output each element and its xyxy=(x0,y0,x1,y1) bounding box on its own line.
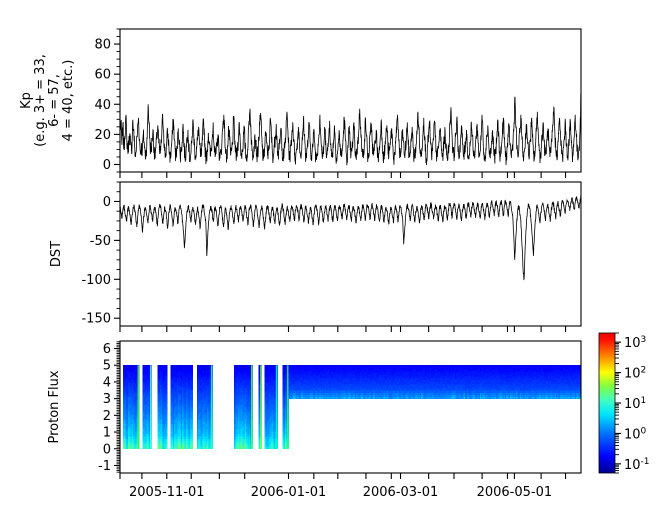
heatmap-cell xyxy=(191,380,193,383)
kp-ytick-label: 0 xyxy=(103,158,111,173)
heatmap-cell xyxy=(191,446,193,449)
heatmap-cell xyxy=(191,370,193,373)
heatmap-cell xyxy=(191,405,193,408)
heatmap-cell xyxy=(166,370,168,373)
heatmap-cell xyxy=(166,385,168,388)
heatmap-cell xyxy=(191,424,193,427)
heatmap-cell xyxy=(166,432,168,435)
heatmap-cell xyxy=(166,392,168,395)
heatmap-cell xyxy=(191,375,193,378)
heatmap-cell xyxy=(191,419,193,422)
heatmap-edge-accent xyxy=(287,365,289,449)
heatmap-cell xyxy=(166,373,168,376)
kp-y-axis-label-line: 4 = 40, etc.) xyxy=(61,60,76,142)
heatmap-cell xyxy=(166,397,168,400)
heatmap-cell xyxy=(191,441,193,444)
heatmap-cell xyxy=(166,382,168,385)
kp-series-line xyxy=(120,92,581,165)
heatmap-cell xyxy=(166,375,168,378)
heatmap-cell xyxy=(191,436,193,439)
heatmap-cell xyxy=(191,407,193,410)
heatmap-cell xyxy=(191,387,193,390)
dst-data-area xyxy=(120,196,581,279)
heatmap-cell xyxy=(191,368,193,371)
heatmap-cell xyxy=(191,439,193,442)
heatmap-edge-accent xyxy=(251,365,253,449)
heatmap-cell xyxy=(166,414,168,417)
figure-canvas: 020406080 Kp(e.g. 3+ = 33,6- = 57,4 = 40… xyxy=(0,0,665,523)
heatmap-cell xyxy=(166,405,168,408)
kp-ytick-label: 80 xyxy=(94,38,111,53)
panel-kp: 020406080 Kp(e.g. 3+ = 33,6- = 57,4 = 40… xyxy=(19,29,581,178)
heatmap-cell xyxy=(166,390,168,393)
heatmap-cell xyxy=(166,424,168,427)
kp-data-area xyxy=(120,92,581,165)
kp-ytick-label: 20 xyxy=(94,128,111,143)
dst-y-axis-label: DST xyxy=(49,241,64,267)
kp-y-ticks xyxy=(114,29,120,172)
dst-ytick-label: -50 xyxy=(90,234,111,249)
kp-ytick-label: 40 xyxy=(94,98,111,113)
heatmap-cell xyxy=(166,412,168,415)
heatmap-cell xyxy=(166,387,168,390)
kp-ytick-label: 60 xyxy=(94,68,111,83)
kp-y-ticklabels: 020406080 xyxy=(94,38,111,173)
dst-y-ticks xyxy=(114,182,120,318)
heatmap-cell xyxy=(191,427,193,430)
heatmap-cell xyxy=(191,397,193,400)
heatmap-cell xyxy=(191,434,193,437)
heatmap-cell xyxy=(191,409,193,412)
heatmap-cell xyxy=(166,422,168,425)
heatmap-cell xyxy=(166,400,168,403)
heatmap-cell xyxy=(166,441,168,444)
heatmap-cell xyxy=(191,395,193,398)
dst-ytick-label: -100 xyxy=(81,273,111,288)
heatmap-edge-accent xyxy=(276,365,278,449)
heatmap-cell xyxy=(166,429,168,432)
heatmap-cell xyxy=(166,419,168,422)
kp-y-axis-label-line: 6- = 57, xyxy=(47,74,62,127)
heatmap-cell xyxy=(166,444,168,447)
dst-plot-frame xyxy=(120,182,581,326)
heatmap-cell xyxy=(191,402,193,405)
heatmap-edge-accent xyxy=(260,365,262,449)
heatmap-cell xyxy=(191,365,193,368)
heatmap-cell xyxy=(191,432,193,435)
heatmap-cell xyxy=(166,409,168,412)
heatmap-cell xyxy=(191,392,193,395)
heatmap-cell xyxy=(191,412,193,415)
proton-flux-heatmap xyxy=(123,365,582,449)
kp-axis-title: Kp(e.g. 3+ = 33,6- = 57,4 = 40, etc.) xyxy=(19,54,76,147)
heatmap-cell xyxy=(191,414,193,417)
heatmap-cell xyxy=(191,373,193,376)
heatmap-cell xyxy=(166,407,168,410)
heatmap-cell xyxy=(166,395,168,398)
heatmap-cell xyxy=(166,446,168,449)
heatmap-cell xyxy=(166,436,168,439)
heatmap-cell xyxy=(191,417,193,420)
heatmap-cell xyxy=(191,400,193,403)
heatmap-edge-accent xyxy=(150,365,152,449)
heatmap-cell xyxy=(191,378,193,381)
dst-x-ticks xyxy=(120,326,566,332)
heatmap-cell xyxy=(191,422,193,425)
plot-figure: 020406080 Kp(e.g. 3+ = 33,6- = 57,4 = 40… xyxy=(0,0,665,523)
heatmap-cell xyxy=(166,380,168,383)
heatmap-cell xyxy=(166,434,168,437)
kp-y-axis-label-line: Kp xyxy=(19,92,34,109)
heatmap-cell xyxy=(191,385,193,388)
panel-proton-flux: -10123456 2005-11-012006-01-012006-03-01… xyxy=(47,341,581,500)
kp-y-axis-label-line: (e.g. 3+ = 33, xyxy=(33,54,48,147)
panel-dst: -150-100-500 DST xyxy=(49,182,581,332)
heatmap-cell xyxy=(191,390,193,393)
heatmap-cell xyxy=(166,427,168,430)
heatmap-cell xyxy=(191,444,193,447)
dst-ytick-label: 0 xyxy=(103,195,111,210)
heatmap-cell xyxy=(166,378,168,381)
heatmap-cell xyxy=(166,439,168,442)
dst-series-line xyxy=(120,196,581,279)
dst-y-ticklabels: -150-100-500 xyxy=(81,195,111,327)
heatmap-cell xyxy=(191,429,193,432)
heatmap-cell xyxy=(166,368,168,371)
kp-x-ticks xyxy=(120,172,566,178)
dst-ytick-label: -150 xyxy=(81,312,111,327)
heatmap-cell xyxy=(166,417,168,420)
heatmap-edge-accent xyxy=(138,365,140,449)
heatmap-edge-accent xyxy=(211,365,213,449)
heatmap-cell xyxy=(191,382,193,385)
heatmap-cell xyxy=(166,365,168,368)
heatmap-cell xyxy=(166,402,168,405)
